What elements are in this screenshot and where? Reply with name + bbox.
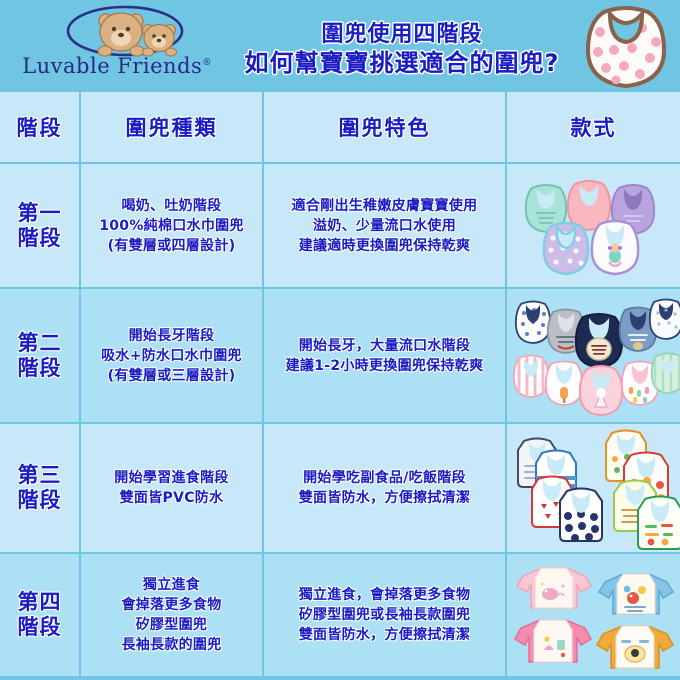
bib-feature-1-line-3: 建議適時更換圍兜保持乾爽 xyxy=(292,236,478,256)
bib-feature-2: 開始長牙，大量流口水階段 建議1-2小時更換圍兜保持乾爽 xyxy=(264,289,505,422)
bib-type-3-line-1: 開始學習進食階段 xyxy=(114,468,228,488)
bib-type-4: 獨立進食 會掉落更多食物 矽膠型圍兜 長袖長款的圍兜 xyxy=(81,554,262,676)
style-photo-1 xyxy=(507,164,680,287)
bib-item xyxy=(649,351,680,395)
stage-3-line-1: 第三 xyxy=(18,463,62,488)
bib-type-3: 開始學習進食階段 雙面皆PVC防水 xyxy=(81,424,262,552)
bib-feature-3-line-1: 開始學吃副食品/吃飯階段 xyxy=(299,468,471,488)
bib-item xyxy=(635,494,680,552)
bib-item xyxy=(557,486,605,544)
title-line-1: 圍兜使用四階段 xyxy=(226,22,578,48)
bib-type-1-line-3: (有雙層或四層設計) xyxy=(99,236,244,256)
bib-item xyxy=(577,363,625,417)
bib-gallery-stage-2 xyxy=(507,289,680,422)
bib-feature-1-line-2: 溢奶、少量流口水使用 xyxy=(292,216,478,236)
bib-feature-4-line-3: 雙面皆防水，方便擦拭清潔 xyxy=(299,625,471,645)
table-header-row: 階段 圍兜種類 圍兜特色 款式 xyxy=(0,92,680,164)
stage-label-2: 第二 階段 xyxy=(0,289,79,422)
bib-feature-2-line-1: 開始長牙，大量流口水階段 xyxy=(286,336,484,356)
long-sleeve-smock-item xyxy=(513,614,593,666)
stage-2-line-2: 階段 xyxy=(18,356,62,381)
bib-gallery-stage-3 xyxy=(507,424,680,552)
bib-type-4-line-2: 會掉落更多食物 xyxy=(121,595,221,615)
column-header-stage: 階段 xyxy=(0,92,79,162)
stage-4-line-1: 第四 xyxy=(18,590,62,615)
pink-polka-dot-bib-icon xyxy=(584,2,668,90)
stage-2-line-1: 第二 xyxy=(18,331,62,356)
stage-1-line-2: 階段 xyxy=(18,226,62,251)
bib-feature-1: 適合剛出生稚嫩皮膚寶寶使用 溢奶、少量流口水使用 建議適時更換圍兜保持乾爽 xyxy=(264,164,505,287)
bib-type-1-line-1: 喝奶、吐奶階段 xyxy=(99,196,244,216)
bib-type-2-line-1: 開始長牙階段 xyxy=(101,326,242,346)
bib-type-2: 開始長牙階段 吸水+防水口水巾圍兜 (有雙層或三層設計) xyxy=(81,289,262,422)
column-header-bib-feature: 圍兜特色 xyxy=(264,92,505,162)
bib-feature-4-line-2: 矽膠型圍兜或長袖長款圍兜 xyxy=(299,605,471,625)
header-banner: Luvable Friends® 圍兜使用四階段 如何幫寶寶挑選適合的圍兜? xyxy=(0,0,680,92)
style-photo-3 xyxy=(507,424,680,552)
brand-block: Luvable Friends® xyxy=(14,4,220,90)
stage-label-1: 第一 階段 xyxy=(0,164,79,287)
bib-gallery-stage-1 xyxy=(507,164,680,287)
stage-4-line-2: 階段 xyxy=(18,615,62,640)
bib-type-1-line-2: 100%純棉口水巾圍兜 xyxy=(99,216,244,236)
style-photo-4 xyxy=(507,554,680,676)
bib-feature-4: 獨立進食，會掉落更多食物 矽膠型圍兜或長袖長款圍兜 雙面皆防水，方便擦拭清潔 xyxy=(264,554,505,676)
table-row-stage-4: 第四 階段 獨立進食 會掉落更多食物 矽膠型圍兜 長袖長款的圍兜 獨立進食，會掉… xyxy=(0,554,680,678)
bib-feature-4-line-1: 獨立進食，會掉落更多食物 xyxy=(299,585,471,605)
stage-label-3: 第三 階段 xyxy=(0,424,79,552)
bib-feature-1-line-1: 適合剛出生稚嫩皮膚寶寶使用 xyxy=(292,196,478,216)
table-row-stage-2: 第二 階段 開始長牙階段 吸水+防水口水巾圍兜 (有雙層或三層設計) 開始長牙，… xyxy=(0,289,680,424)
brand-name: Luvable Friends® xyxy=(14,54,220,78)
bib-feature-3: 開始學吃副食品/吃飯階段 雙面皆防水，方便擦拭清潔 xyxy=(264,424,505,552)
bib-stages-infographic: Luvable Friends® 圍兜使用四階段 如何幫寶寶挑選適合的圍兜? xyxy=(0,0,680,680)
bib-type-4-line-1: 獨立進食 xyxy=(121,575,221,595)
stage-label-4: 第四 階段 xyxy=(0,554,79,676)
long-sleeve-smock-item xyxy=(515,562,593,612)
bib-feature-2-line-2: 建議1-2小時更換圍兜保持乾爽 xyxy=(286,356,484,376)
teddy-bears-oval-logo-icon xyxy=(60,4,190,60)
brand-name-text: Luvable Friends xyxy=(22,54,202,78)
bib-item xyxy=(589,218,641,276)
stage-1-line-1: 第一 xyxy=(18,201,62,226)
style-photo-2 xyxy=(507,289,680,422)
column-header-style: 款式 xyxy=(507,92,680,162)
bib-type-4-line-4: 長袖長款的圍兜 xyxy=(121,635,221,655)
bib-type-2-line-3: (有雙層或三層設計) xyxy=(101,366,242,386)
bib-type-1: 喝奶、吐奶階段 100%純棉口水巾圍兜 (有雙層或四層設計) xyxy=(81,164,262,287)
bib-feature-3-line-2: 雙面皆防水，方便擦拭清潔 xyxy=(299,488,471,508)
table-row-stage-3: 第三 階段 開始學習進食階段 雙面皆PVC防水 開始學吃副食品/吃飯階段 雙面皆… xyxy=(0,424,680,554)
table-row-stage-1: 第一 階段 喝奶、吐奶階段 100%純棉口水巾圍兜 (有雙層或四層設計) 適合剛… xyxy=(0,164,680,289)
title-line-2: 如何幫寶寶挑選適合的圍兜? xyxy=(226,48,578,78)
trademark-symbol: ® xyxy=(202,58,212,68)
long-sleeve-smock-item xyxy=(595,620,675,672)
column-header-bib-type: 圍兜種類 xyxy=(81,92,262,162)
bib-item xyxy=(541,220,591,276)
smock-gallery-stage-4 xyxy=(507,554,680,676)
bib-type-3-line-2: 雙面皆PVC防水 xyxy=(114,488,228,508)
bib-type-4-line-3: 矽膠型圍兜 xyxy=(121,615,221,635)
bib-type-2-line-2: 吸水+防水口水巾圍兜 xyxy=(101,346,242,366)
stage-3-line-2: 階段 xyxy=(18,488,62,513)
long-sleeve-smock-item xyxy=(597,568,675,618)
page-title: 圍兜使用四階段 如何幫寶寶挑選適合的圍兜? xyxy=(226,22,578,78)
bib-item xyxy=(647,297,680,341)
stages-table: 階段 圍兜種類 圍兜特色 款式 第一 階段 喝奶、吐奶階段 xyxy=(0,92,680,680)
